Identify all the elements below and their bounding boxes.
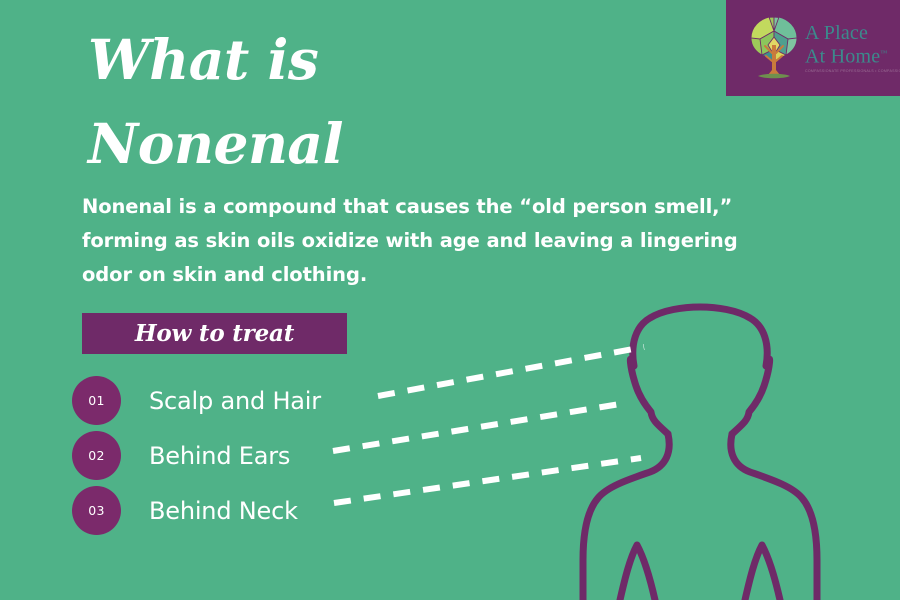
brand-logo-tagline: COMPASSIONATE PROFESSIONALS • COMPASSION… (805, 69, 900, 73)
page-title-line-2: Nonenal (88, 102, 688, 186)
step-number-text: 03 (88, 503, 105, 518)
treatment-step-list: 01 Scalp and Hair 02 Behind Ears 03 Behi… (72, 373, 392, 538)
list-item: 01 Scalp and Hair (72, 373, 392, 428)
step-label-scalp-and-hair: Scalp and Hair (149, 387, 321, 415)
step-number-text: 01 (88, 393, 105, 408)
step-number-badge-01: 01 (72, 376, 121, 425)
trademark-symbol: ™ (880, 49, 887, 57)
page-title: What is Nonenal (88, 18, 688, 186)
tree-logo-icon (748, 15, 800, 81)
brand-logo-line-1: A Place (805, 23, 900, 43)
step-number-badge-02: 02 (72, 431, 121, 480)
brand-logo-badge: A Place At Home™ COMPASSIONATE PROFESSIO… (726, 0, 900, 96)
step-number-badge-03: 03 (72, 486, 121, 535)
infographic-canvas: What is Nonenal Nonenal is a compound th… (0, 0, 900, 600)
connector-line-1 (378, 347, 644, 396)
brand-logo-text: A Place At Home™ COMPASSIONATE PROFESSIO… (805, 23, 900, 74)
brand-logo-line-2: At Home™ (805, 43, 900, 67)
step-label-behind-neck: Behind Neck (149, 497, 298, 525)
brand-logo-line-2-text: At Home (805, 45, 880, 67)
how-to-treat-label: How to treat (135, 320, 294, 347)
page-title-line-1: What is (88, 18, 688, 102)
how-to-treat-badge: How to treat (82, 313, 347, 354)
list-item: 03 Behind Neck (72, 483, 392, 538)
human-back-silhouette-icon (583, 307, 817, 600)
list-item: 02 Behind Ears (72, 428, 392, 483)
body-paragraph: Nonenal is a compound that causes the “o… (82, 190, 742, 292)
step-number-text: 02 (88, 448, 105, 463)
step-label-behind-ears: Behind Ears (149, 442, 290, 470)
